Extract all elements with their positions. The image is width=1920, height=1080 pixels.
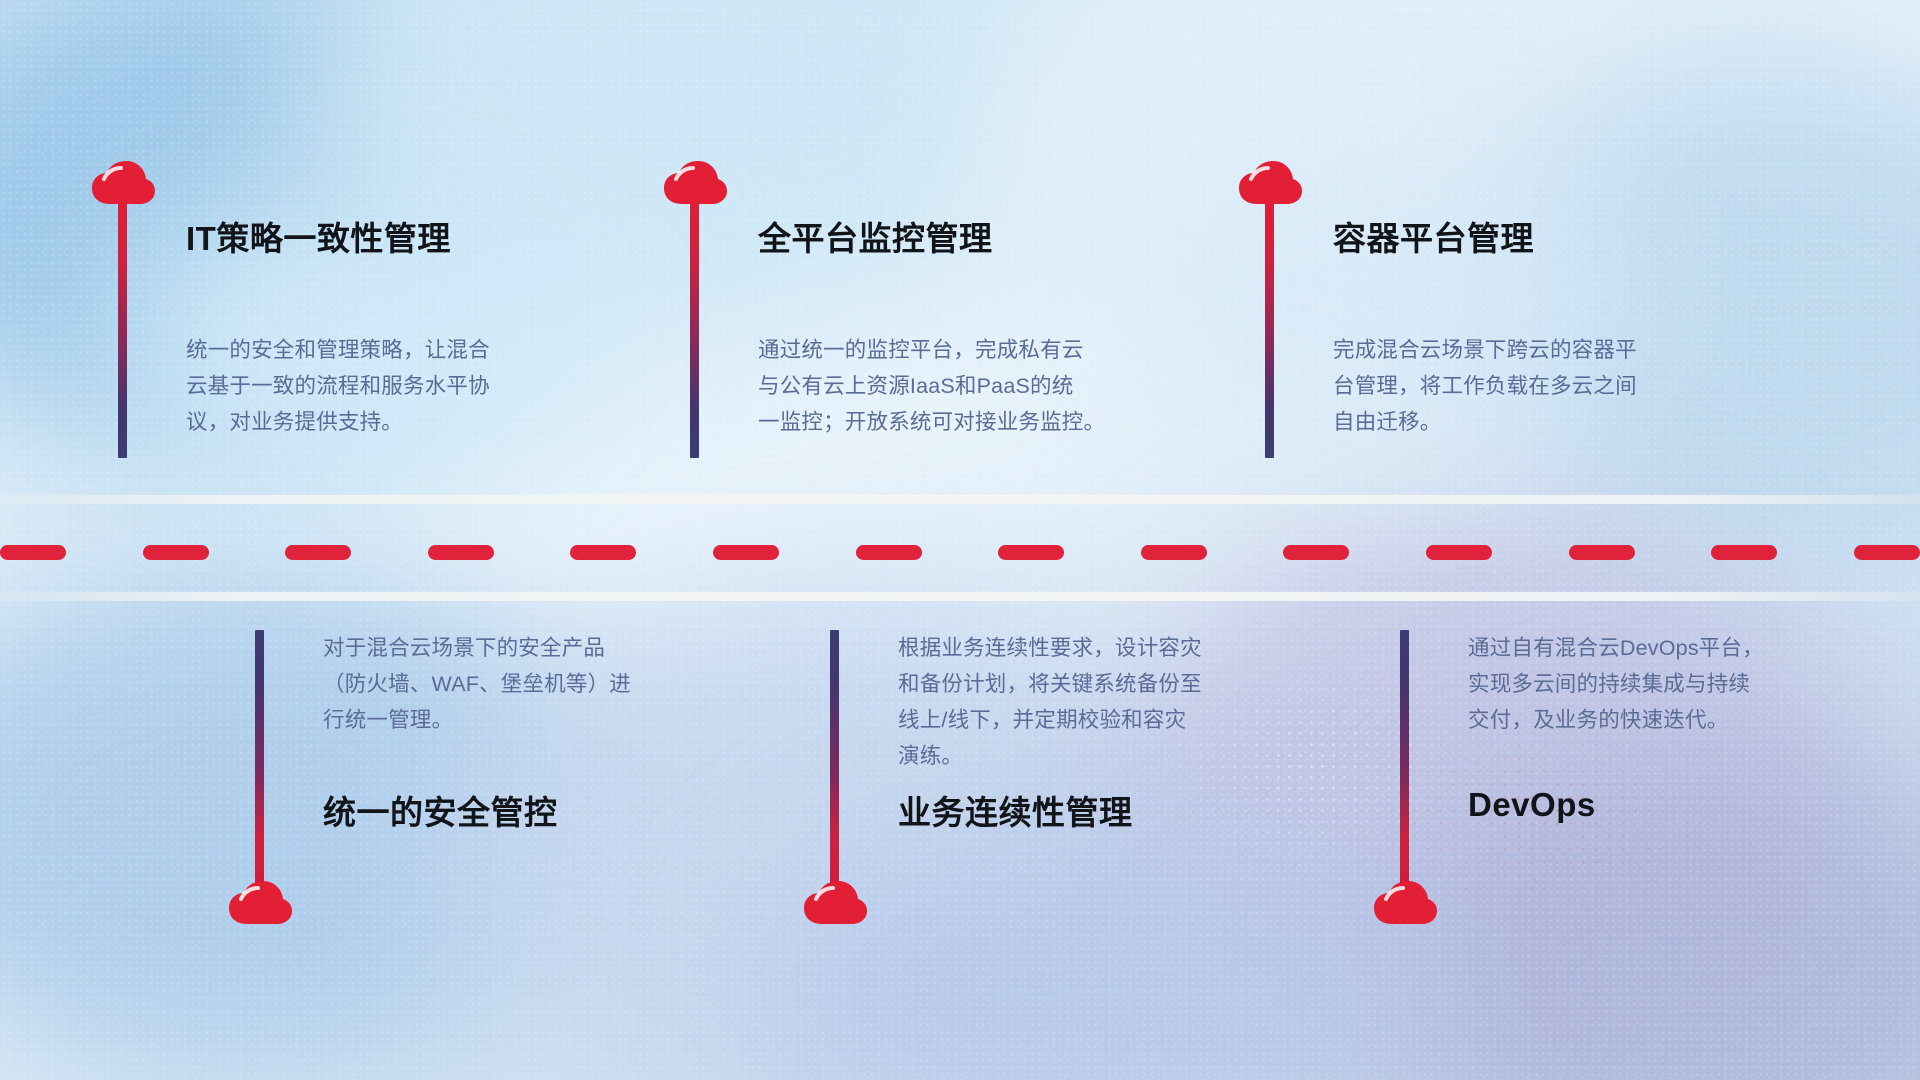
road-dash <box>1141 545 1207 560</box>
body-line: 台管理，将工作负载在多云之间 <box>1333 368 1693 404</box>
card-body: 通过统一的监控平台，完成私有云 与公有云上资源IaaS和PaaS的统 一监控；开… <box>758 332 1118 440</box>
card-body: 根据业务连续性要求，设计容灾 和备份计划，将关键系统备份至 线上/线下，并定期校… <box>898 630 1258 774</box>
cloud-icon <box>1237 160 1303 206</box>
body-line: 完成混合云场景下跨云的容器平 <box>1333 332 1693 368</box>
card-body: 对于混合云场景下的安全产品 （防火墙、WAF、堡垒机等）进 行统一管理。 <box>323 630 683 738</box>
body-line: 自由迁移。 <box>1333 404 1693 440</box>
road-dash <box>285 545 351 560</box>
body-line: 线上/线下，并定期校验和容灾 <box>898 702 1258 738</box>
body-line: 和备份计划，将关键系统备份至 <box>898 666 1258 702</box>
road-dashed-centerline <box>0 544 1920 560</box>
cloud-icon <box>227 880 293 926</box>
body-line: 与公有云上资源IaaS和PaaS的统 <box>758 368 1118 404</box>
card-title: 容器平台管理 <box>1333 212 1534 260</box>
card-body: 通过自有混合云DevOps平台， 实现多云间的持续集成与持续 交付，及业务的快速… <box>1468 630 1828 738</box>
road-edge-bottom <box>0 592 1920 601</box>
card-title: DevOps <box>1468 786 1596 824</box>
body-line: 实现多云间的持续集成与持续 <box>1468 666 1828 702</box>
card-body: 统一的安全和管理策略，让混合 云基于一致的流程和服务水平协 议，对业务提供支持。 <box>186 332 546 440</box>
body-line: 通过统一的监控平台，完成私有云 <box>758 332 1118 368</box>
body-line: 一监控；开放系统可对接业务监控。 <box>758 404 1118 440</box>
card-body: 完成混合云场景下跨云的容器平 台管理，将工作负载在多云之间 自由迁移。 <box>1333 332 1693 440</box>
road-dash <box>713 545 779 560</box>
road-dash <box>0 545 66 560</box>
road-dash <box>143 545 209 560</box>
road-dash <box>1283 545 1349 560</box>
body-line: 云基于一致的流程和服务水平协 <box>186 368 546 404</box>
body-line: 对于混合云场景下的安全产品 <box>323 630 683 666</box>
body-line: 根据业务连续性要求，设计容灾 <box>898 630 1258 666</box>
pin-stem <box>1265 196 1274 458</box>
road-dash <box>1711 545 1777 560</box>
pin-stem <box>255 630 264 888</box>
body-line: 统一的安全和管理策略，让混合 <box>186 332 546 368</box>
pin-stem <box>830 630 839 888</box>
infographic-canvas: IT策略一致性管理 统一的安全和管理策略，让混合 云基于一致的流程和服务水平协 … <box>0 0 1920 1080</box>
cloud-icon <box>1372 880 1438 926</box>
body-line: 通过自有混合云DevOps平台， <box>1468 630 1828 666</box>
pin-stem <box>1400 630 1409 888</box>
body-line: 交付，及业务的快速迭代。 <box>1468 702 1828 738</box>
road-dash <box>856 545 922 560</box>
road-dash <box>1569 545 1635 560</box>
body-line: （防火墙、WAF、堡垒机等）进 <box>323 666 683 702</box>
road-dash <box>428 545 494 560</box>
road-dash <box>998 545 1064 560</box>
card-title: 全平台监控管理 <box>758 212 993 260</box>
road-dash <box>1426 545 1492 560</box>
body-line: 行统一管理。 <box>323 702 683 738</box>
pin-stem <box>690 196 699 458</box>
cloud-icon <box>802 880 868 926</box>
road-edge-top <box>0 495 1920 504</box>
card-title: IT策略一致性管理 <box>186 212 451 260</box>
body-line: 演练。 <box>898 738 1258 774</box>
road-dash <box>1854 545 1920 560</box>
pin-stem <box>118 196 127 458</box>
cloud-icon <box>662 160 728 206</box>
cloud-icon <box>90 160 156 206</box>
card-title: 业务连续性管理 <box>898 786 1133 834</box>
card-title: 统一的安全管控 <box>323 786 558 834</box>
road-dash <box>570 545 636 560</box>
body-line: 议，对业务提供支持。 <box>186 404 546 440</box>
